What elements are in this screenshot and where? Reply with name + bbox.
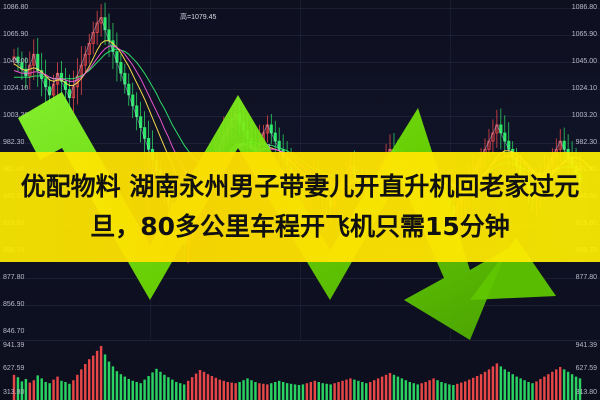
- y-tick-right: 877.80: [576, 274, 597, 281]
- y-tick-left: 877.80: [3, 274, 24, 281]
- annotation-high: 高=1079.45: [180, 12, 216, 22]
- y-tick-right: 1086.80: [572, 4, 597, 11]
- y-tick-left: 1045.00: [3, 58, 28, 65]
- y-tick-left: 1086.80: [3, 4, 28, 11]
- y-tick-left: 1003.20: [3, 112, 28, 119]
- volume-plot: [0, 341, 600, 400]
- stock-chart-banner: 1086.80 1065.90 1045.00 1024.10 1003.20 …: [0, 0, 600, 400]
- volume-chart-panel: 941.39 627.59 313.80 941.39 627.59 313.8…: [0, 340, 600, 400]
- vol-tick-right: 627.59: [576, 365, 597, 372]
- y-tick-right: 1045.00: [572, 58, 597, 65]
- vol-tick-right: 941.39: [576, 342, 597, 349]
- y-tick-right: 1024.10: [572, 85, 597, 92]
- y-tick-right: 982.30: [576, 139, 597, 146]
- vol-tick-left: 313.80: [3, 389, 24, 396]
- y-tick-left: 1065.90: [3, 31, 28, 38]
- y-tick-left: 1024.10: [3, 85, 28, 92]
- y-tick-right: 1003.20: [572, 112, 597, 119]
- headline-text: 优配物料 湖南永州男子带妻儿开直升机回老家过元旦，80多公里车程开飞机只需15分…: [0, 167, 600, 247]
- vol-tick-left: 941.39: [3, 342, 24, 349]
- vol-tick-left: 627.59: [3, 365, 24, 372]
- annotation-low: 低=912.28: [238, 142, 271, 152]
- y-tick-right: 1065.90: [572, 31, 597, 38]
- y-tick-left: 982.30: [3, 139, 24, 146]
- headline-banner: 优配物料 湖南永州男子带妻儿开直升机回老家过元旦，80多公里车程开飞机只需15分…: [0, 152, 600, 262]
- y-tick-left: 856.90: [3, 301, 24, 308]
- y-tick-left: 846.70: [3, 328, 24, 335]
- vol-tick-right: 313.80: [576, 389, 597, 396]
